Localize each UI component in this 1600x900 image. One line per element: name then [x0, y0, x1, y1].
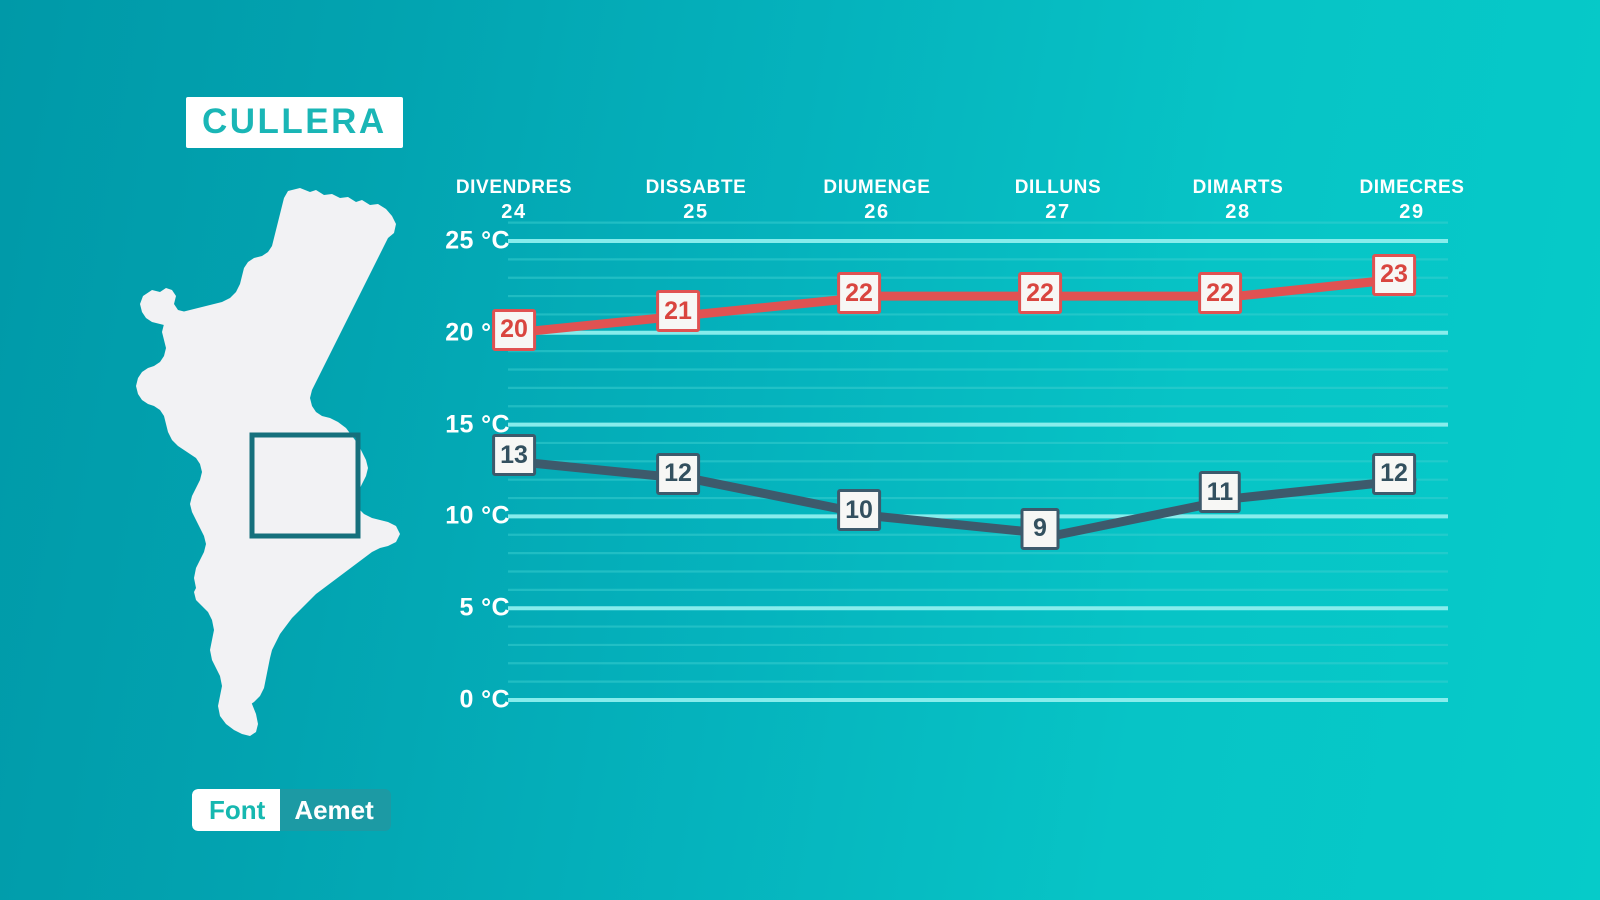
min-temp-value-1: 13: [492, 434, 536, 476]
max-temp-value-5: 22: [1198, 272, 1242, 314]
y-axis-tick-0: 0 °C: [459, 686, 510, 715]
day-header-1: DIVENDRES24: [414, 177, 614, 224]
day-name: DILLUNS: [958, 177, 1158, 199]
day-number: 25: [596, 201, 796, 224]
day-header-5: DIMARTS28: [1138, 177, 1338, 224]
day-name: DIVENDRES: [414, 177, 614, 199]
max-temp-value-4: 22: [1018, 272, 1062, 314]
page-title: CULLERA: [202, 104, 387, 139]
day-number: 27: [958, 201, 1158, 224]
day-number: 29: [1312, 201, 1512, 224]
day-header-2: DISSABTE25: [596, 177, 796, 224]
day-number: 26: [777, 201, 977, 224]
day-number: 24: [414, 201, 614, 224]
y-axis-tick-5: 5 °C: [459, 594, 510, 623]
day-header-6: DIMECRES29: [1312, 177, 1512, 224]
max-temp-value-2: 21: [656, 290, 700, 332]
day-number: 28: [1138, 201, 1338, 224]
y-axis-tick-10: 10 °C: [445, 502, 510, 531]
day-header-4: DILLUNS27: [958, 177, 1158, 224]
y-axis-tick-15: 15 °C: [445, 410, 510, 439]
min-temp-value-2: 12: [656, 453, 700, 495]
day-name: DISSABTE: [596, 177, 796, 199]
day-header-3: DIUMENGE26: [777, 177, 977, 224]
min-temperature-line: [514, 461, 1412, 534]
chart-y-axis: 0 °C5 °C10 °C15 °C20 °C25 °C: [415, 0, 510, 900]
source-attribution: Font Aemet: [192, 789, 391, 831]
y-axis-tick-25: 25 °C: [445, 227, 510, 256]
location-title-badge: CULLERA: [186, 97, 403, 148]
max-temp-value-6: 23: [1372, 254, 1416, 296]
region-map: [100, 178, 420, 748]
y-axis-tick-20: 20 °C: [445, 318, 510, 347]
max-temp-value-1: 20: [492, 309, 536, 351]
min-temp-value-6: 12: [1372, 453, 1416, 495]
source-org: Aemet: [280, 789, 390, 831]
day-name: DIMECRES: [1312, 177, 1512, 199]
min-temp-value-4: 9: [1021, 508, 1060, 550]
day-name: DIMARTS: [1138, 177, 1338, 199]
max-temperature-line: [514, 278, 1412, 333]
day-name: DIUMENGE: [777, 177, 977, 199]
min-temp-value-5: 11: [1199, 471, 1241, 513]
max-temp-value-3: 22: [837, 272, 881, 314]
source-label: Font: [192, 789, 280, 831]
min-temp-value-3: 10: [837, 489, 881, 531]
